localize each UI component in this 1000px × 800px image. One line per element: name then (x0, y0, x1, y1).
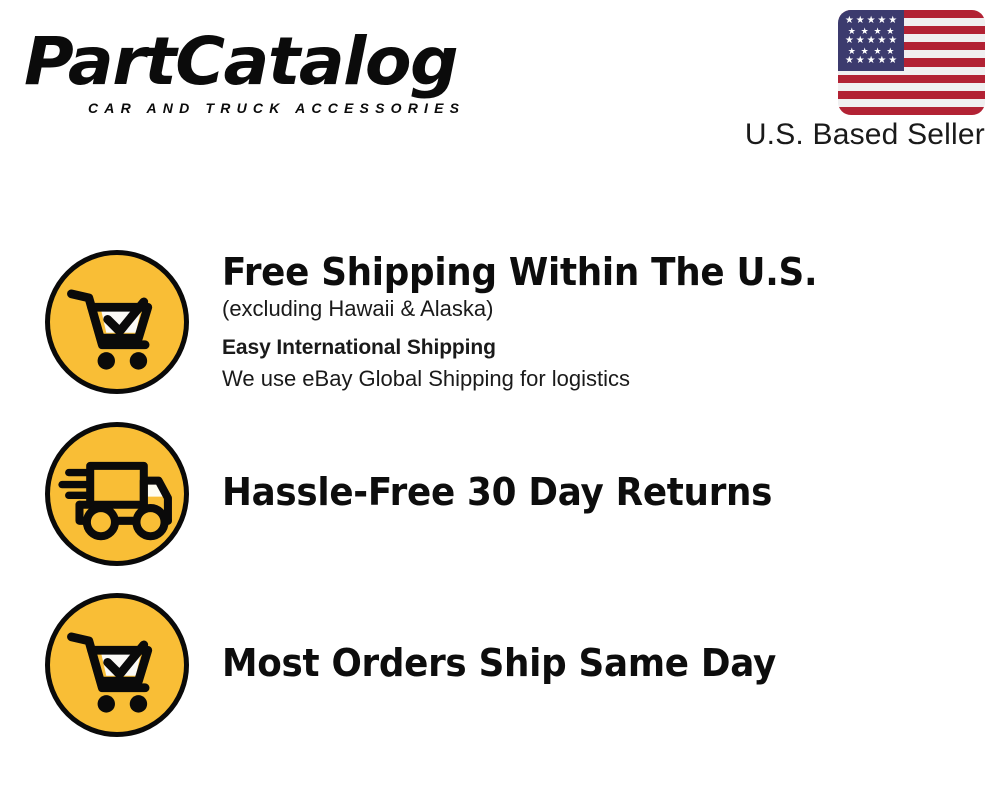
benefit-subdetail: We use eBay Global Shipping for logistic… (222, 364, 982, 394)
flag-stripe (838, 107, 985, 115)
benefit-heading: Most Orders Ship Same Day (222, 641, 936, 685)
flag-stripe (838, 83, 985, 91)
us-flag-icon: ★★★★★ ★★★★ ★★★★★ ★★★★ ★★★★★ (838, 10, 985, 115)
benefit-text-block: Free Shipping Within The U.S. (excluding… (222, 250, 982, 394)
brand-wordmark: PartCatalog (24, 28, 508, 96)
us-based-seller-label: U.S. Based Seller (745, 118, 985, 152)
flag-stripe (838, 75, 985, 83)
flag-stripe (838, 91, 985, 99)
benefit-subnote: (excluding Hawaii & Alaska) (222, 294, 982, 324)
cart-check-icon (45, 250, 189, 394)
benefit-heading: Hassle-Free 30 Day Returns (222, 470, 936, 514)
flag-stripe (838, 99, 985, 107)
flag-canton: ★★★★★ ★★★★ ★★★★★ ★★★★ ★★★★★ (838, 10, 904, 71)
flag-star-row: ★★★★★ (843, 36, 899, 46)
cart-check-icon (45, 593, 189, 737)
benefit-text-block: Most Orders Ship Same Day (222, 593, 982, 685)
flag-star-row: ★★★★★ (843, 56, 899, 66)
benefit-text-block: Hassle-Free 30 Day Returns (222, 422, 982, 514)
page-header: PartCatalog CAR AND TRUCK ACCESSORIES ★★… (0, 0, 1000, 170)
benefit-heading: Free Shipping Within The U.S. (222, 250, 936, 294)
brand-logo[interactable]: PartCatalog CAR AND TRUCK ACCESSORIES (24, 28, 494, 118)
benefit-subheading: Easy International Shipping (222, 324, 982, 364)
brand-tagline: CAR AND TRUCK ACCESSORIES (88, 100, 465, 116)
delivery-truck-icon (45, 422, 189, 566)
flag-star-row: ★★★★★ (843, 16, 899, 26)
